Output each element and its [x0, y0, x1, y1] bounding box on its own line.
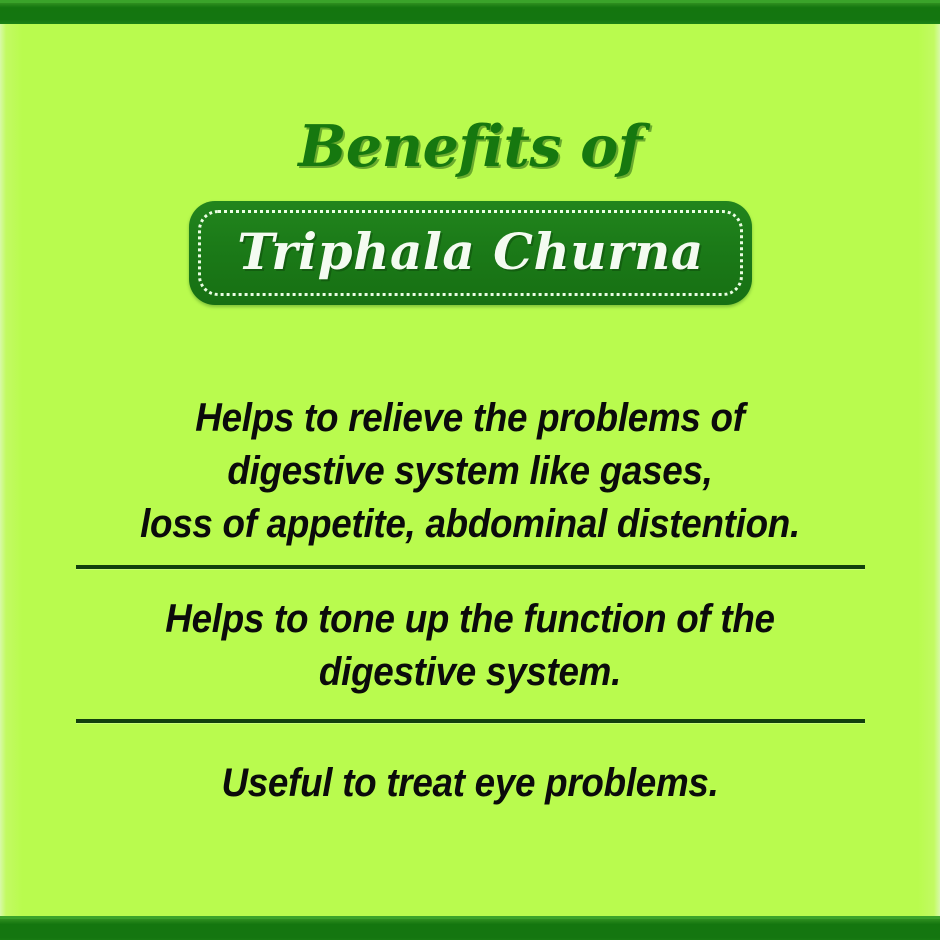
benefit-item: Helps to tone up the function of the dig… — [79, 569, 861, 719]
bottom-decorative-bar — [0, 916, 940, 940]
benefit-line: Helps to relieve the problems of — [79, 392, 861, 445]
benefit-line: digestive system. — [79, 646, 861, 699]
banner-dotted-border: Triphala Churna — [198, 210, 743, 296]
benefit-line: loss of appetite, abdominal distention. — [79, 498, 861, 551]
benefit-item: Helps to relieve the problems of digesti… — [79, 392, 861, 565]
benefit-line: digestive system like gases, — [79, 445, 861, 498]
benefit-line: Useful to treat eye problems. — [79, 757, 861, 810]
benefits-list: Helps to relieve the problems of digesti… — [45, 392, 895, 810]
product-name: Triphala Churna — [237, 225, 704, 279]
product-title-banner: Triphala Churna — [189, 201, 752, 305]
poster-canvas: Benefits of Triphala Churna Helps to rel… — [0, 0, 940, 940]
page-title: Benefits of — [0, 114, 940, 180]
benefit-item: Useful to treat eye problems. — [79, 723, 861, 810]
top-decorative-bar — [0, 0, 940, 24]
benefit-line: Helps to tone up the function of the — [79, 593, 861, 646]
